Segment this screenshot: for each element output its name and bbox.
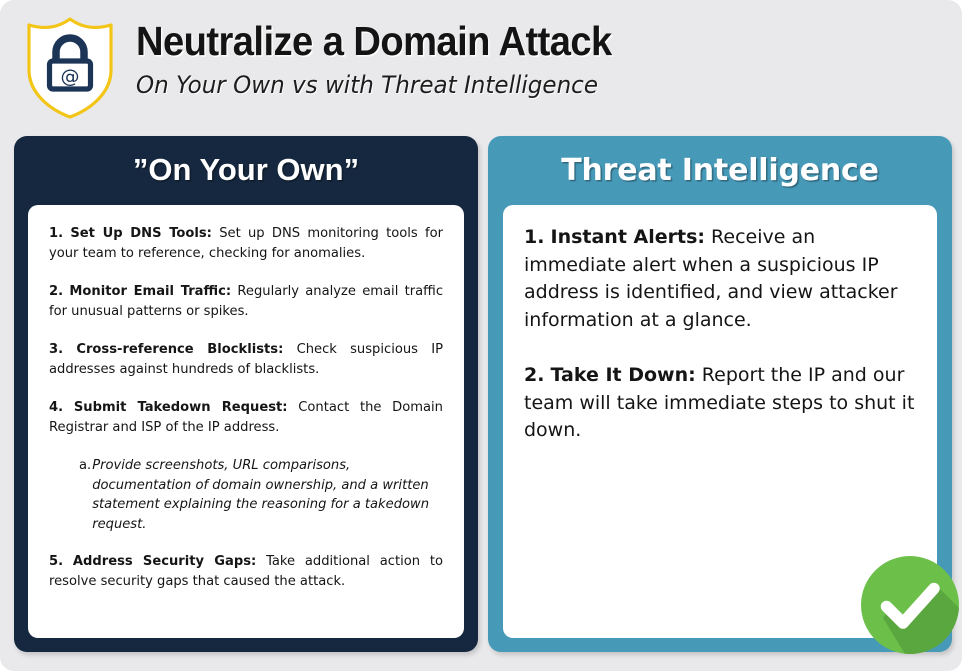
step-label: Cross-reference Blocklists:	[76, 342, 283, 357]
list-item: 5. Address Security Gaps: Take additiona…	[49, 552, 443, 592]
step-number: 1.	[524, 226, 544, 248]
panel-header-on-your-own: ”On Your Own”	[14, 136, 478, 204]
step-number: 2.	[524, 364, 544, 386]
list-item: 2. Monitor Email Traffic: Regularly anal…	[49, 282, 443, 322]
page-title: Neutralize a Domain Attack	[136, 17, 871, 65]
step-number: 4.	[49, 400, 63, 415]
list-item: 1. Set Up DNS Tools: Set up DNS monitori…	[49, 224, 443, 264]
panel-header-label: Threat Intelligence	[561, 153, 879, 188]
step-label: Instant Alerts:	[551, 226, 706, 248]
header: @ Neutralize a Domain Attack On Your Own…	[0, 0, 962, 130]
sub-list-item: a. Provide screenshots, URL comparisons,…	[79, 456, 443, 534]
step-number: 3.	[49, 342, 63, 357]
infographic-canvas: @ Neutralize a Domain Attack On Your Own…	[0, 0, 962, 671]
title-block: Neutralize a Domain Attack On Your Own v…	[136, 17, 926, 101]
step-number: 2.	[49, 284, 63, 299]
svg-text:@: @	[61, 66, 80, 88]
panel-header-label: ”On Your Own”	[133, 152, 359, 188]
substep-marker: a.	[79, 456, 91, 476]
list-item: 2. Take It Down: Report the IP and our t…	[524, 362, 916, 445]
step-number: 5.	[49, 554, 63, 569]
green-check-circle-icon	[861, 556, 959, 654]
substeps-list: a. Provide screenshots, URL comparisons,…	[49, 456, 443, 534]
panel-card-on-your-own: 1. Set Up DNS Tools: Set up DNS monitori…	[28, 205, 464, 638]
list-item: 4. Submit Takedown Request: Contact the …	[49, 398, 443, 438]
panel-header-threat-intelligence: Threat Intelligence	[488, 136, 952, 204]
step-label: Submit Takedown Request:	[74, 400, 288, 415]
substep-text: Provide screenshots, URL comparisons, do…	[92, 456, 431, 534]
panel-on-your-own: ”On Your Own” 1. Set Up DNS Tools: Set u…	[14, 136, 478, 652]
step-label: Monitor Email Traffic:	[69, 284, 231, 299]
list-item: 3. Cross-reference Blocklists: Check sus…	[49, 340, 443, 380]
step-label: Set Up DNS Tools:	[70, 226, 212, 241]
shield-lock-at-icon: @	[23, 14, 117, 122]
list-item: 1. Instant Alerts: Receive an immediate …	[524, 224, 916, 334]
step-label: Take It Down:	[551, 364, 696, 386]
step-number: 1.	[49, 226, 63, 241]
steps-list-on-your-own: 1. Set Up DNS Tools: Set up DNS monitori…	[28, 205, 464, 638]
page-subtitle: On Your Own vs with Threat Intelligence	[136, 69, 894, 101]
step-label: Address Security Gaps:	[73, 554, 256, 569]
